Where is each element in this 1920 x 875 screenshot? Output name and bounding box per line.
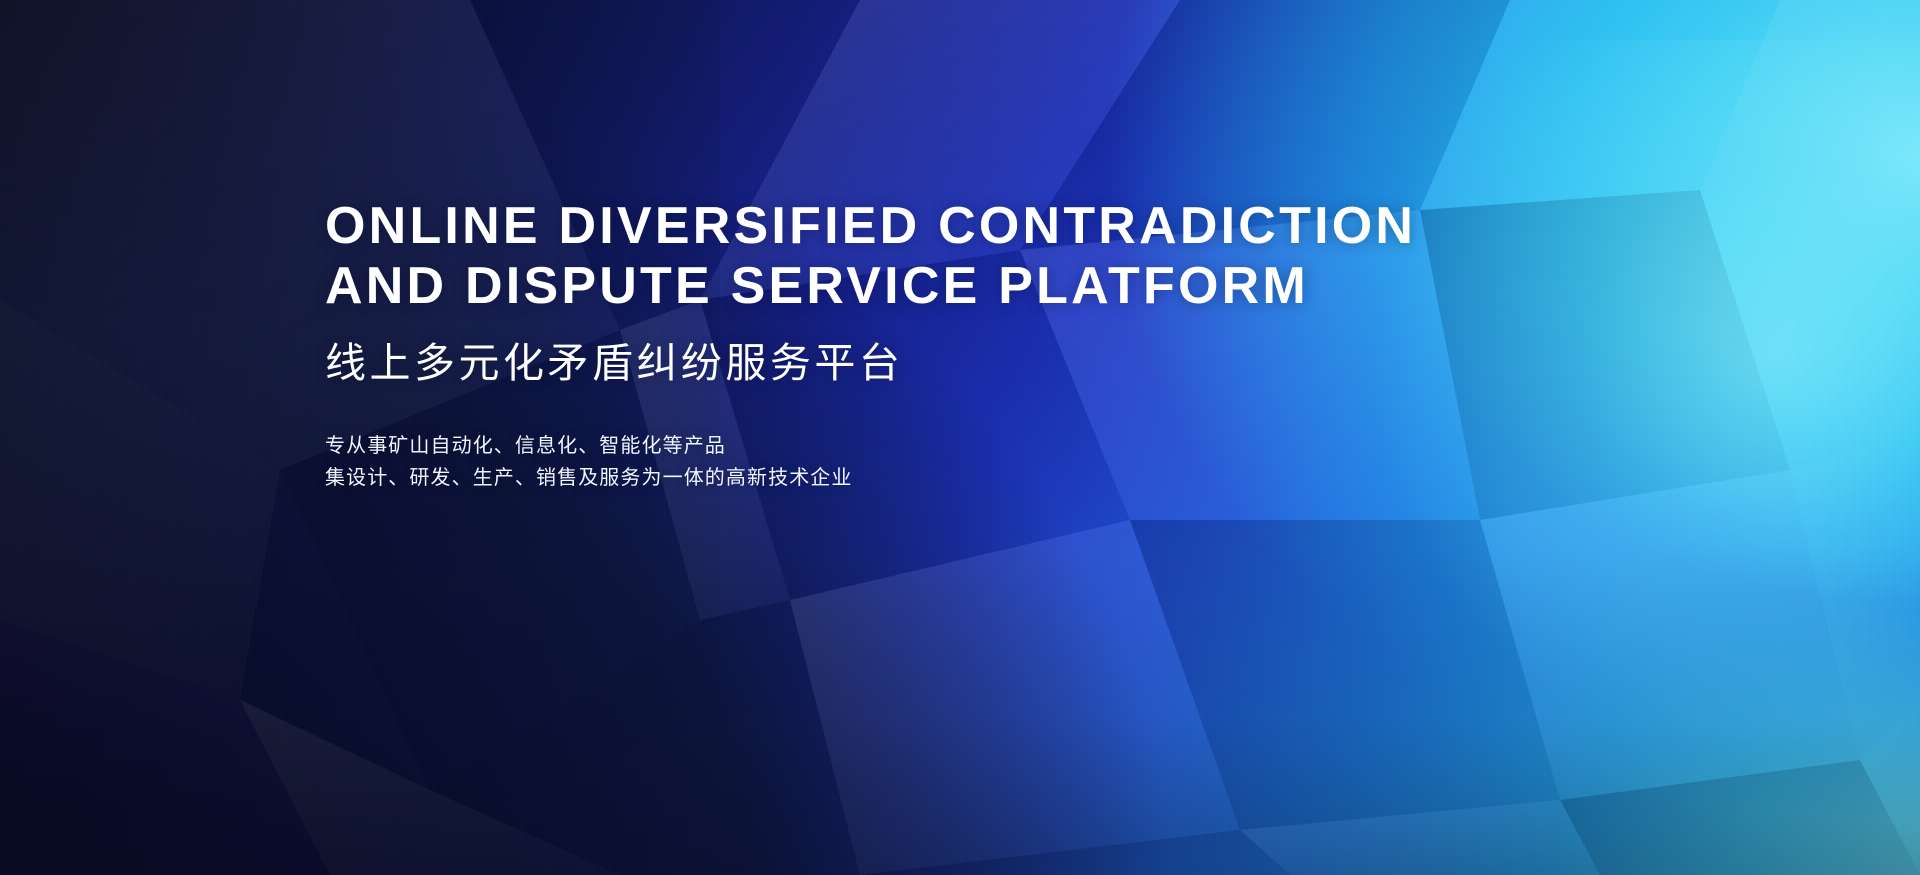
hero-description-line-1: 专从事矿山自动化、信息化、智能化等产品 [325,430,1505,462]
hero-description-line-2: 集设计、研发、生产、销售及服务为一体的高新技术企业 [325,462,1505,494]
hero-description: 专从事矿山自动化、信息化、智能化等产品 集设计、研发、生产、销售及服务为一体的高… [325,430,1505,494]
hero-title-chinese: 线上多元化矛盾纠纷服务平台 [325,338,1505,388]
bottom-vignette [0,545,1920,875]
hero-banner: ONLINE DIVERSIFIED CONTRADICTION AND DIS… [0,0,1920,875]
hero-title-english: ONLINE DIVERSIFIED CONTRADICTION AND DIS… [325,196,1505,316]
hero-title-english-line-1: ONLINE DIVERSIFIED CONTRADICTION [325,197,1416,255]
hero-copy-block: ONLINE DIVERSIFIED CONTRADICTION AND DIS… [325,196,1505,494]
hero-title-english-line-2: AND DISPUTE SERVICE PLATFORM [325,257,1309,315]
